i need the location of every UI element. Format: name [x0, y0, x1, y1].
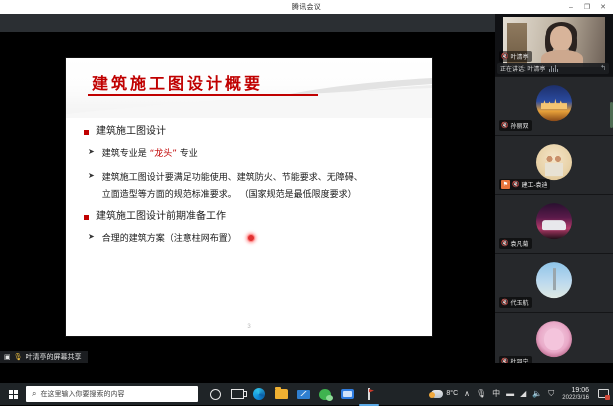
participant-tile[interactable]: 🔇 代玉航	[495, 254, 613, 313]
slide-bullet-1-text: 建筑施工图设计	[96, 126, 166, 139]
slide-bullet-4-text: 建筑施工图设计前期准备工作	[96, 211, 226, 224]
search-icon: ⌕	[32, 390, 36, 398]
slide-bullet-1: 建筑施工图设计	[80, 126, 418, 139]
arrow-bullet-icon: ➤	[88, 147, 95, 157]
host-badge-icon: ⚑	[501, 180, 510, 189]
participant-namebar: ⚑ 🔇 建工-袁迪	[499, 179, 550, 190]
volume-icon[interactable]: 🔈	[532, 390, 542, 398]
slide-bullet-3: ➤ 建筑施工图设计要满足功能使用、建筑防火、节能要求、无障碍、立面造型等方面的规…	[80, 170, 418, 203]
participant-tile[interactable]: 🔇 孙丽双	[495, 77, 613, 136]
edge-icon[interactable]	[252, 387, 266, 401]
slide-title: 建筑施工图设计概要	[92, 70, 263, 94]
window-titlebar: 腾讯会议 – ❐ ✕	[0, 0, 613, 15]
clock[interactable]: 19:06 2022/3/16	[562, 387, 589, 401]
screen-share-label: 叶清亭的屏幕共享	[26, 352, 82, 362]
participant-name: 叶清亭	[510, 52, 528, 61]
tencent-meeting-window: 腾讯会议 – ❐ ✕ 建筑施工图设计概要	[0, 0, 613, 405]
tencent-meeting-icon[interactable]	[340, 387, 354, 401]
bullet-5-label: 合理的建筑方案（注意柱网布置）	[102, 234, 237, 244]
square-bullet-icon	[84, 215, 89, 220]
mic-muted-icon: 🔇	[501, 241, 508, 247]
cortana-icon[interactable]	[208, 387, 222, 401]
slide-bullet-3-text: 建筑施工图设计要满足功能使用、建筑防火、节能要求、无障碍、立面造型等方面的规范标…	[102, 170, 363, 203]
mic-muted-icon: 🔇	[501, 359, 508, 364]
slide-page-number: 3	[66, 324, 432, 330]
participant-tile[interactable]: 🔇 叶清亭 正在讲话: 叶清亭 ↰	[495, 14, 613, 77]
notification-icon[interactable]	[597, 388, 609, 399]
participant-rail[interactable]: 🔇 叶清亭 正在讲话: 叶清亭 ↰ 🔇 孙丽双 ⚑ 🔇 建工-袁迪	[495, 14, 613, 363]
slide-bullet-5-text: 合理的建筑方案（注意柱网布置）	[102, 231, 255, 248]
laser-pointer-icon	[247, 234, 255, 242]
maximize-button[interactable]: ❐	[579, 0, 595, 14]
arrow-bullet-icon: ➤	[88, 232, 95, 242]
wechat-icon[interactable]	[318, 387, 332, 401]
tray-chevron-icon[interactable]: ∧	[464, 390, 470, 398]
mic-muted-icon: 🔇	[501, 54, 508, 60]
clock-time: 19:06	[571, 387, 589, 394]
avatar	[536, 85, 572, 121]
task-view-icon[interactable]	[230, 387, 244, 401]
shared-screen-stage[interactable]: 建筑施工图设计概要 建筑施工图设计 ➤ 建筑专业是 “龙头” 专业 ➤ 建筑施工…	[0, 32, 495, 363]
file-explorer-icon[interactable]	[274, 387, 288, 401]
clock-date: 2022/3/16	[562, 395, 589, 401]
participant-name: 袁凡菊	[510, 239, 528, 248]
avatar	[536, 144, 572, 180]
active-speaker-pill[interactable]: 正在讲话: 叶清亭 ↰	[497, 63, 609, 74]
screen-icon: ▣	[4, 354, 11, 361]
bullet-3-line1: 建筑施工图设计要满足功能使用、建筑防火、节能要求、无障碍、	[102, 173, 363, 183]
temperature-label: 8°C	[446, 390, 458, 397]
microphone-icon[interactable]: 🎙	[476, 390, 486, 398]
video-person-face	[550, 26, 572, 51]
weather-icon	[431, 390, 443, 398]
slide-bullet-2: ➤ 建筑专业是 “龙头” 专业	[80, 146, 418, 163]
participant-name: 孙丽双	[510, 121, 528, 130]
participant-namebar: 🔇 孙丽双	[499, 120, 532, 131]
microphone-icon: 🎙	[14, 354, 23, 361]
shield-icon[interactable]: ⛉	[548, 390, 554, 398]
system-tray: 8°C ∧ 🎙 中 ▬ ◢ 🔈 ⛉ 19:06 2022/3/16	[431, 387, 613, 401]
windows-taskbar: ⌕ 在这里输入你要搜索的内容 8°C ∧ 🎙 中 ▬ ◢ 🔈 ⛉	[0, 383, 613, 405]
mic-muted-icon: 🔇	[512, 182, 519, 188]
window-controls: – ❐ ✕	[563, 0, 611, 14]
bullet-3-line2: 立面造型等方面的规范标准要求。 （国家规范是最低限度要求）	[102, 190, 357, 200]
slide-bullet-5: ➤ 合理的建筑方案（注意柱网布置）	[80, 231, 418, 248]
avatar	[536, 262, 572, 298]
participant-namebar: 🔇 代玉航	[499, 297, 532, 308]
participant-tile[interactable]: 🔇 杜羽宁	[495, 313, 613, 363]
active-speaker-label: 正在讲话: 叶清亭	[500, 64, 545, 73]
participant-tile[interactable]: ⚑ 🔇 建工-袁迪	[495, 136, 613, 195]
pinned-app-icon[interactable]	[362, 387, 376, 401]
mic-muted-icon: 🔇	[501, 300, 508, 306]
avatar	[536, 321, 572, 357]
close-button[interactable]: ✕	[595, 0, 611, 14]
taskbar-icons	[208, 387, 376, 401]
slide-body: 建筑施工图设计 ➤ 建筑专业是 “龙头” 专业 ➤ 建筑施工图设计要满足功能使用…	[66, 118, 432, 248]
participant-name: 建工-袁迪	[521, 180, 547, 189]
mail-icon[interactable]	[296, 387, 310, 401]
participant-namebar: 🔇 袁凡菊	[499, 238, 532, 249]
start-button[interactable]	[0, 383, 26, 405]
battery-icon[interactable]: ▬	[506, 390, 514, 398]
windows-logo-icon	[9, 390, 18, 399]
arrow-bullet-icon: ➤	[88, 171, 95, 181]
weather-widget[interactable]: 8°C	[431, 390, 458, 398]
mic-muted-icon: 🔇	[501, 123, 508, 129]
slide-header: 建筑施工图设计概要	[66, 58, 432, 118]
participant-namebar: 🔇 叶清亭	[499, 51, 532, 62]
presentation-slide: 建筑施工图设计概要 建筑施工图设计 ➤ 建筑专业是 “龙头” 专业 ➤ 建筑施工…	[66, 58, 432, 336]
ime-icon[interactable]: 中	[492, 390, 500, 398]
participant-name: 杜羽宁	[510, 357, 528, 363]
bullet-2-before: 建筑专业是	[102, 149, 147, 159]
bullet-2-highlight: “龙头”	[150, 149, 177, 159]
window-title: 腾讯会议	[292, 2, 321, 12]
search-input[interactable]: ⌕ 在这里输入你要搜索的内容	[26, 386, 198, 402]
collapse-arrow-icon[interactable]: ↰	[600, 65, 606, 72]
audio-wave-icon	[549, 65, 558, 72]
avatar	[536, 203, 572, 239]
network-icon[interactable]: ◢	[520, 390, 526, 398]
slide-bullet-2-text: 建筑专业是 “龙头” 专业	[102, 146, 198, 163]
square-bullet-icon	[84, 130, 89, 135]
slide-bullet-4: 建筑施工图设计前期准备工作	[80, 211, 418, 224]
participant-name: 代玉航	[510, 298, 528, 307]
slide-title-underline	[88, 94, 318, 96]
search-placeholder: 在这里输入你要搜索的内容	[40, 389, 124, 399]
participant-namebar: 🔇 杜羽宁	[499, 356, 532, 363]
bullet-2-after: 专业	[180, 149, 198, 159]
participant-tile[interactable]: 🔇 袁凡菊	[495, 195, 613, 254]
screen-share-banner: ▣ 🎙 叶清亭的屏幕共享	[0, 351, 88, 363]
minimize-button[interactable]: –	[563, 0, 579, 14]
